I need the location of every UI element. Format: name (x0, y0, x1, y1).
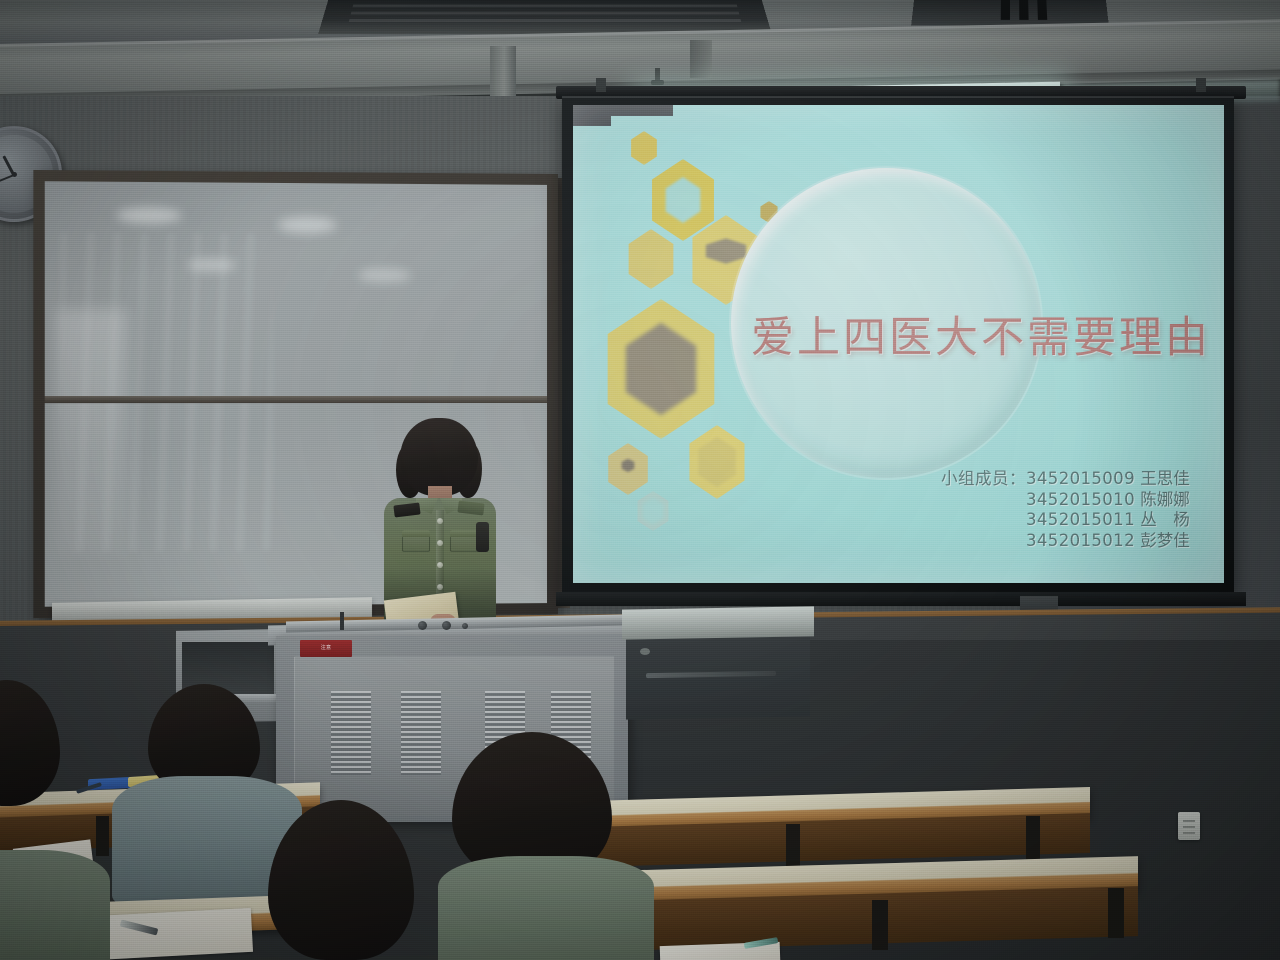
presenter-chest-pocket (402, 530, 430, 552)
member-row: 3452015012 彭梦佳 (941, 531, 1190, 552)
presenter-jacket-button (437, 540, 443, 546)
desk-leg (96, 816, 109, 856)
projection-screen-bottom-bar (556, 592, 1246, 606)
lectern-knob[interactable] (418, 621, 427, 630)
presenter-chest-pocket (450, 530, 478, 552)
whiteboard-smudge (278, 217, 337, 234)
side-cabinet-cable-hole (640, 648, 650, 655)
member-name: 王思佳 (1140, 469, 1190, 488)
wall-outlet-plate-icon (1178, 812, 1200, 840)
hexagon-decoration-small-lower (605, 443, 651, 495)
member-row: 3452015010 陈娜娜 (941, 490, 1190, 511)
ceiling-air-vent-icon (318, 0, 772, 34)
ceiling-air-vent-secondary-icon (911, 0, 1109, 26)
desk-leg (1108, 888, 1124, 938)
member-id: 3452015011 (1026, 510, 1135, 529)
member-row: 3452015011 丛 杨 (941, 510, 1190, 531)
slide-title: 爱上四医大不需要理由 (751, 303, 1211, 365)
projector-keystone-notch (573, 105, 611, 126)
presenter-jacket-button (437, 518, 443, 524)
hexagon-decoration-solid-left (625, 229, 677, 289)
hexagon-decoration-tiny-top (629, 131, 659, 165)
projection-screen: 爱上四医大不需要理由 小组成员：3452015009 王思佳 345201501… (562, 96, 1234, 594)
ceiling-pillar-right (690, 40, 712, 78)
member-name: 彭梦佳 (1140, 531, 1190, 550)
projector-keystone-notch-secondary (611, 105, 673, 116)
presenter (378, 418, 500, 626)
whiteboard-divider (45, 396, 547, 403)
lectern-vent (401, 691, 441, 775)
desk-leg (872, 900, 888, 950)
desk-leg (786, 824, 800, 868)
lectern-knob[interactable] (442, 621, 451, 630)
side-cabinet-top (622, 606, 814, 639)
lectern-warning-label: 注意 (300, 640, 352, 657)
member-id: 3452015010 (1026, 490, 1135, 509)
classroom-presentation-photo: 爱上四医大不需要理由 小组成员：3452015009 王思佳 345201501… (0, 0, 1280, 960)
member-id: 3452015012 (1026, 531, 1135, 550)
projection-screen-mount-left (596, 78, 606, 92)
hexagon-decoration-faint-bottom (635, 491, 671, 531)
whiteboard-smudge (358, 268, 411, 282)
lectern-indicator-light (462, 623, 468, 629)
presenter-hair (400, 418, 478, 496)
microphone-stand (340, 612, 344, 630)
presenter-arm-patch (476, 522, 489, 552)
slide-member-list: 小组成员：3452015009 王思佳 3452015010 陈娜娜 34520… (941, 469, 1190, 551)
clock-center-pin (12, 172, 17, 177)
ceiling-hook-icon (655, 68, 660, 84)
member-name: 丛 杨 (1140, 510, 1190, 529)
projection-screen-mount-right (1196, 78, 1206, 92)
member-list-label: 小组成员： (941, 469, 1026, 488)
hexagon-decoration-outline-lower (685, 425, 749, 499)
presentation-slide: 爱上四医大不需要理由 小组成员：3452015009 王思佳 345201501… (573, 105, 1224, 583)
lectern-warning-text: 注意 (300, 640, 352, 657)
desk-leg (1026, 816, 1040, 860)
whiteboard-smudge (116, 207, 182, 224)
lectern-vent (331, 691, 371, 775)
student-front-left-torso (0, 850, 110, 960)
member-row: 小组成员：3452015009 王思佳 (941, 469, 1190, 490)
handout-paper (91, 908, 253, 960)
student-front-right-torso (438, 856, 654, 960)
member-name: 陈娜娜 (1140, 490, 1190, 509)
member-id: 3452015009 (1026, 469, 1135, 488)
hexagon-decoration-large (599, 299, 723, 439)
